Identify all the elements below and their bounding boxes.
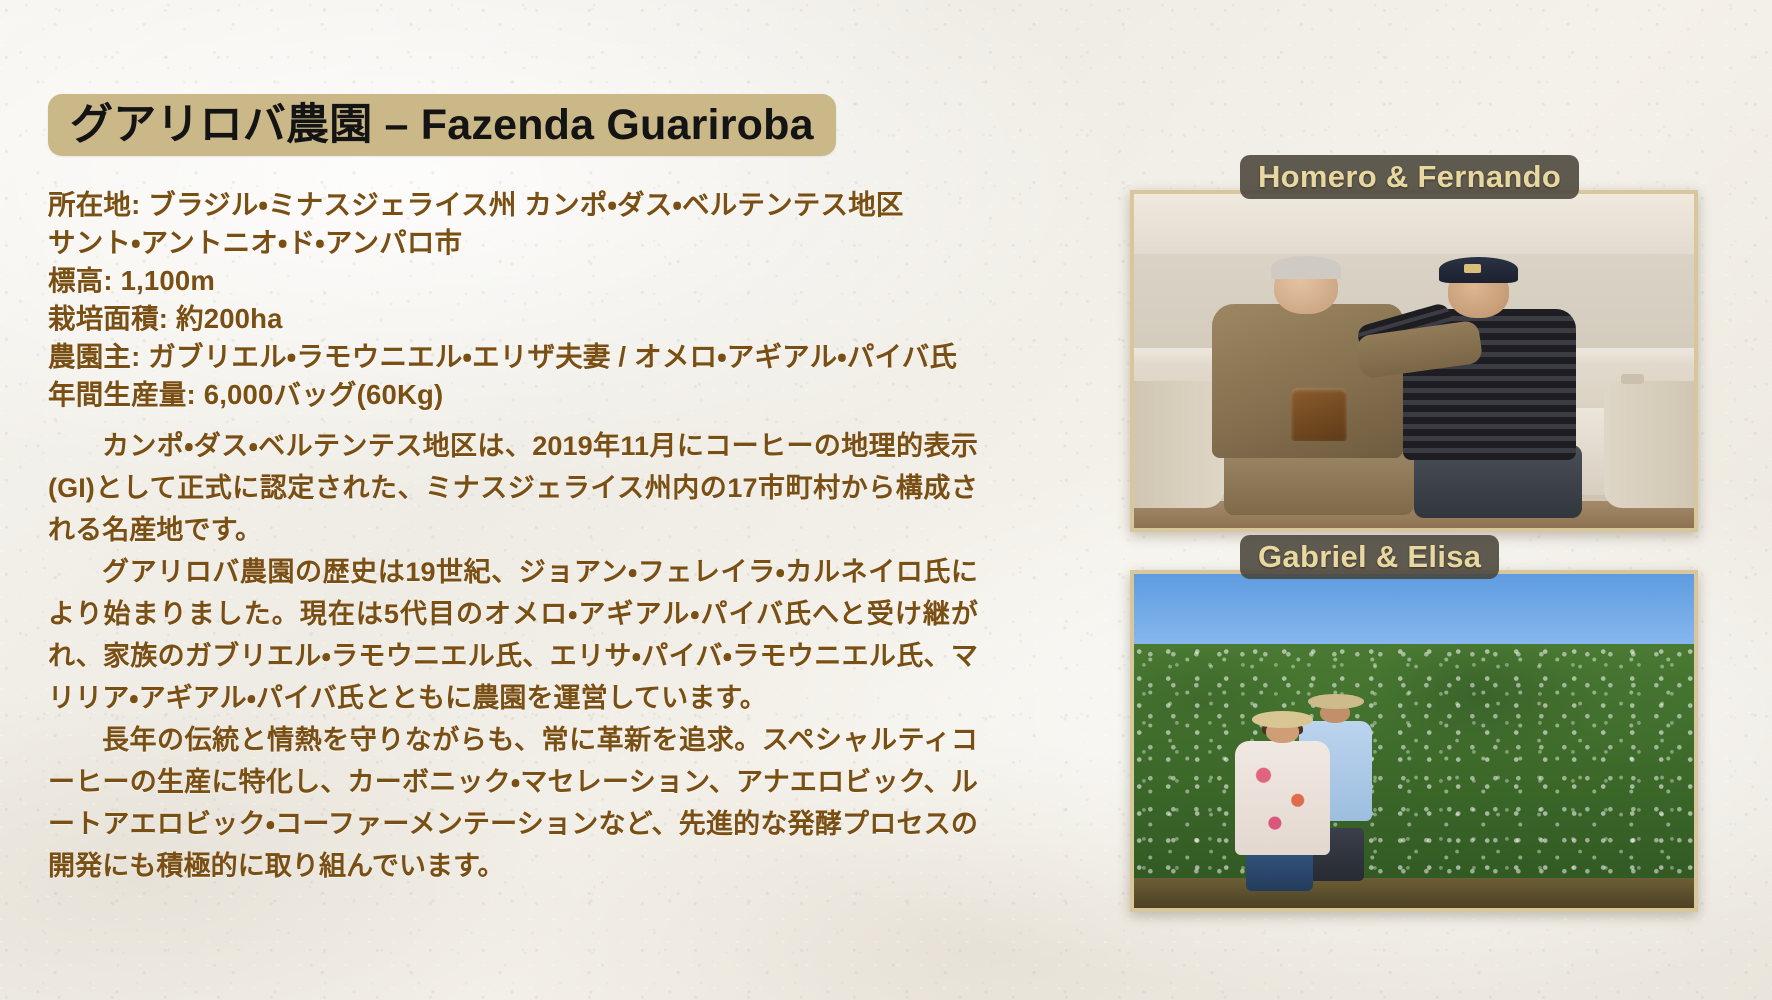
info-row-area: 栽培面積: 約200ha [48,300,1008,338]
photo-caption-homero-fernando: Homero & Fernando [1240,155,1579,199]
slide-root: グアリロバ農園 – Fazenda Guariroba 所在地: ブラジル・ミナ… [0,0,1772,1000]
photo-person-woman-hat [1252,711,1314,728]
farm-info-block: 所在地: ブラジル・ミナスジェライス州 カンポ・ダス・ベルテンテス地区 サント・… [48,186,1008,414]
photo-cap-logo [1464,264,1481,273]
photo-person-man-hat [1308,694,1364,709]
paragraph-region: カンポ・ダス・ベルテンテス地区は、2019年11月にコーヒーの地理的表示(GI)… [48,425,978,551]
photo-sofa-arm-right [1604,381,1698,508]
photo-wall-upper [1134,194,1694,254]
photo-person-elder-hair [1271,256,1341,279]
info-row-owner: 農園主: ガブリエル・ラモウニエル・エリザ夫妻 / オメロ・アギアル・パイバ氏 [48,338,1008,376]
photo-frame [1130,570,1698,912]
photo-frame [1130,190,1698,532]
photo-caption-gabriel-elisa: Gabriel & Elisa [1240,535,1499,579]
paragraph-history: グアリロバ農園の歴史は19世紀、ジョアン・フェレイラ・カルネイロ氏により始まりま… [48,551,978,719]
photo-sofa-arm-left [1130,381,1224,508]
photo-coffee-blossoms [1134,644,1694,908]
paragraph-process: 長年の伝統と情熱を守りながらも、常に革新を追求。スペシャルティコーヒーの生産に特… [48,719,978,887]
page-title: グアリロバ農園 – Fazenda Guariroba [70,104,814,147]
description-text: カンポ・ダス・ベルテンテス地区は、2019年11月にコーヒーの地理的表示(GI)… [48,425,978,887]
photo-person-woman-torso [1235,741,1330,855]
info-row-city: サント・アントニオ・ド・アンパロ市 [48,224,1008,262]
info-row-production: 年間生産量: 6,000バッグ(60Kg) [48,376,1008,414]
page-title-band: グアリロバ農園 – Fazenda Guariroba [48,94,836,156]
info-row-location: 所在地: ブラジル・ミナスジェライス州 カンポ・ダス・ベルテンテス地区 [48,186,1008,224]
info-row-altitude: 標高: 1,100m [48,262,1008,300]
photo-ground [1134,878,1694,908]
photo-wooden-trophy [1291,388,1347,441]
photo-card-gabriel-elisa: Gabriel & Elisa [1130,570,1698,912]
photo-wristwatch [1621,374,1643,384]
photo-card-homero-fernando: Homero & Fernando [1130,190,1698,532]
